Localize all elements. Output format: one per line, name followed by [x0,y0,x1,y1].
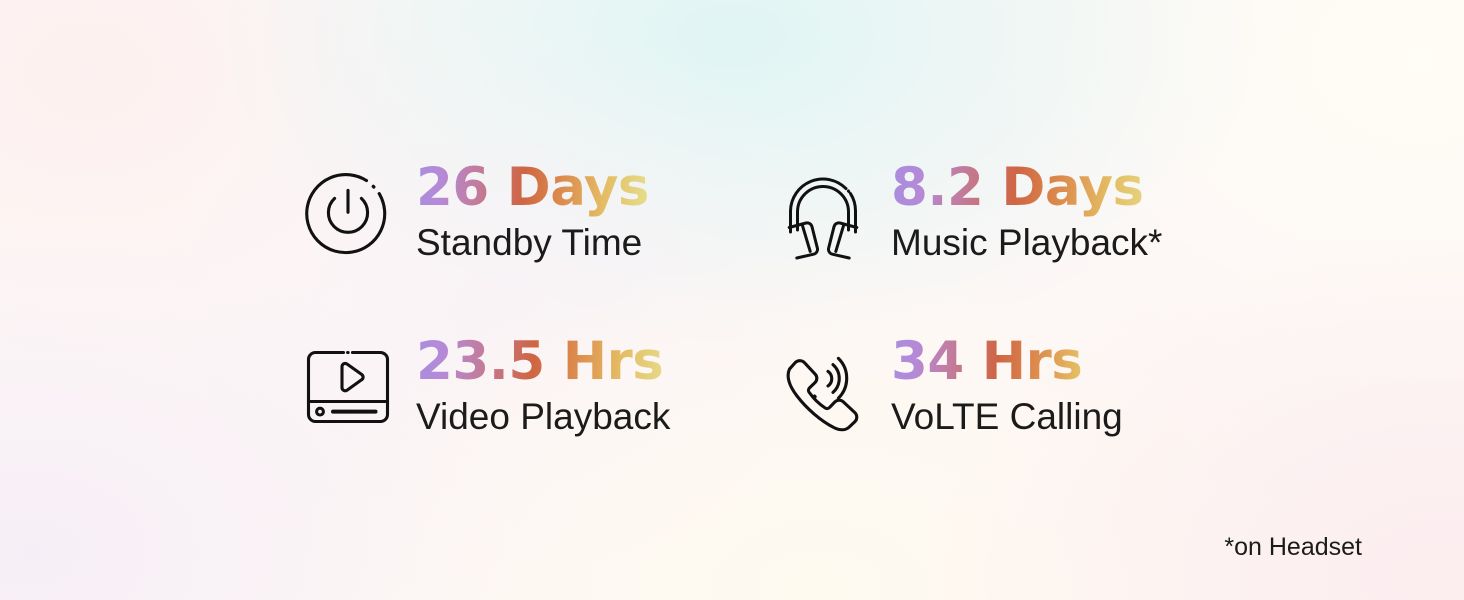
spec-cell-volte-calling: 34 Hrs VoLTE Calling [775,300,1200,474]
spec-label-video-playback: Video Playback [416,395,670,439]
headphones-icon [775,165,871,261]
spec-text-music-playback: 8.2 Days Music Playback* [891,161,1162,265]
spec-text-standby-time: 26 Days Standby Time [416,161,649,265]
spec-label-standby-time: Standby Time [416,221,649,265]
spec-grid: 26 Days Standby Time [300,126,1200,474]
spec-cell-standby-time: 26 Days Standby Time [300,126,725,300]
spec-value-video-playback: 23.5 Hrs [416,335,670,391]
spec-value-standby-time: 26 Days [416,161,649,217]
video-player-icon [300,339,396,435]
phone-call-icon [775,339,871,435]
spec-value-volte-calling: 34 Hrs [891,335,1123,391]
spec-label-music-playback: Music Playback* [891,221,1162,265]
spec-cell-music-playback: 8.2 Days Music Playback* [775,126,1200,300]
power-button-icon [300,165,396,261]
battery-life-spec-banner: 26 Days Standby Time [0,0,1464,600]
spec-label-volte-calling: VoLTE Calling [891,395,1123,439]
spec-text-video-playback: 23.5 Hrs Video Playback [416,335,670,439]
spec-text-volte-calling: 34 Hrs VoLTE Calling [891,335,1123,439]
footnote-on-headset: *on Headset [1224,533,1362,562]
spec-cell-video-playback: 23.5 Hrs Video Playback [300,300,725,474]
spec-value-music-playback: 8.2 Days [891,161,1162,217]
